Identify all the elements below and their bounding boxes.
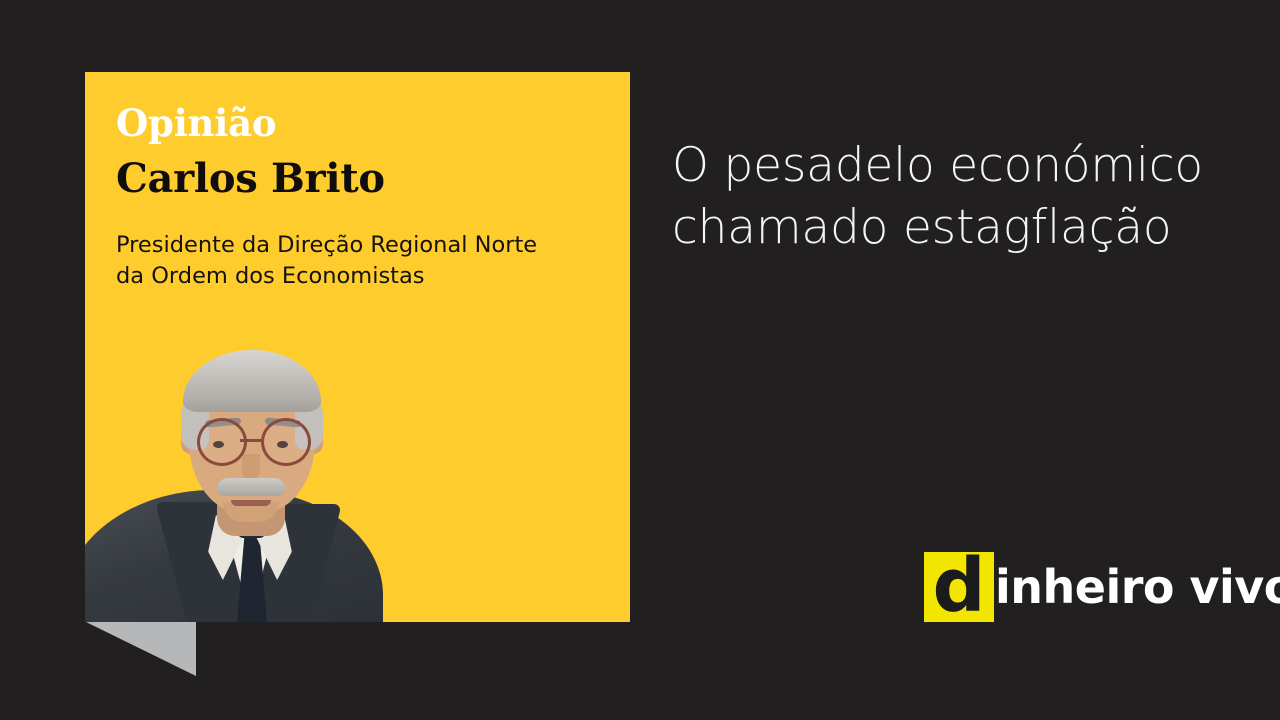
portrait-eyeglass-left [197, 418, 247, 466]
portrait-mustache [217, 478, 285, 496]
portrait-nose [242, 454, 260, 480]
article-card-slide: Opinião Carlos Brito Presidente da Direç… [0, 0, 1280, 720]
logo-letter-d: d [933, 558, 986, 616]
opinion-kicker: Opinião [116, 105, 276, 142]
portrait-mouth [231, 500, 271, 506]
author-role: Presidente da Direção Regional Norte da … [116, 230, 626, 292]
portrait-hair [183, 350, 321, 412]
author-role-line-1: Presidente da Direção Regional Norte [116, 230, 626, 261]
portrait-eyeglass-right [261, 418, 311, 466]
portrait-eyeglass-bridge [240, 439, 262, 443]
article-headline-line-1: O pesadelo económico [672, 135, 1252, 197]
opinion-card: Opinião Carlos Brito Presidente da Direç… [85, 72, 630, 622]
article-headline-line-2: chamado estagflação [672, 197, 1252, 259]
author-portrait-photo [85, 302, 385, 622]
page-fold-triangle-icon [86, 622, 196, 676]
article-headline: O pesadelo económico chamado estagflação [672, 135, 1252, 259]
logo-wordmark: inheiro vivo [995, 564, 1280, 610]
author-role-line-2: da Ordem dos Economistas [116, 261, 626, 292]
logo-mark-square-icon: d [924, 552, 994, 622]
dinheiro-vivo-logo: d inheiro vivo [924, 551, 1280, 623]
author-name: Carlos Brito [116, 159, 385, 199]
